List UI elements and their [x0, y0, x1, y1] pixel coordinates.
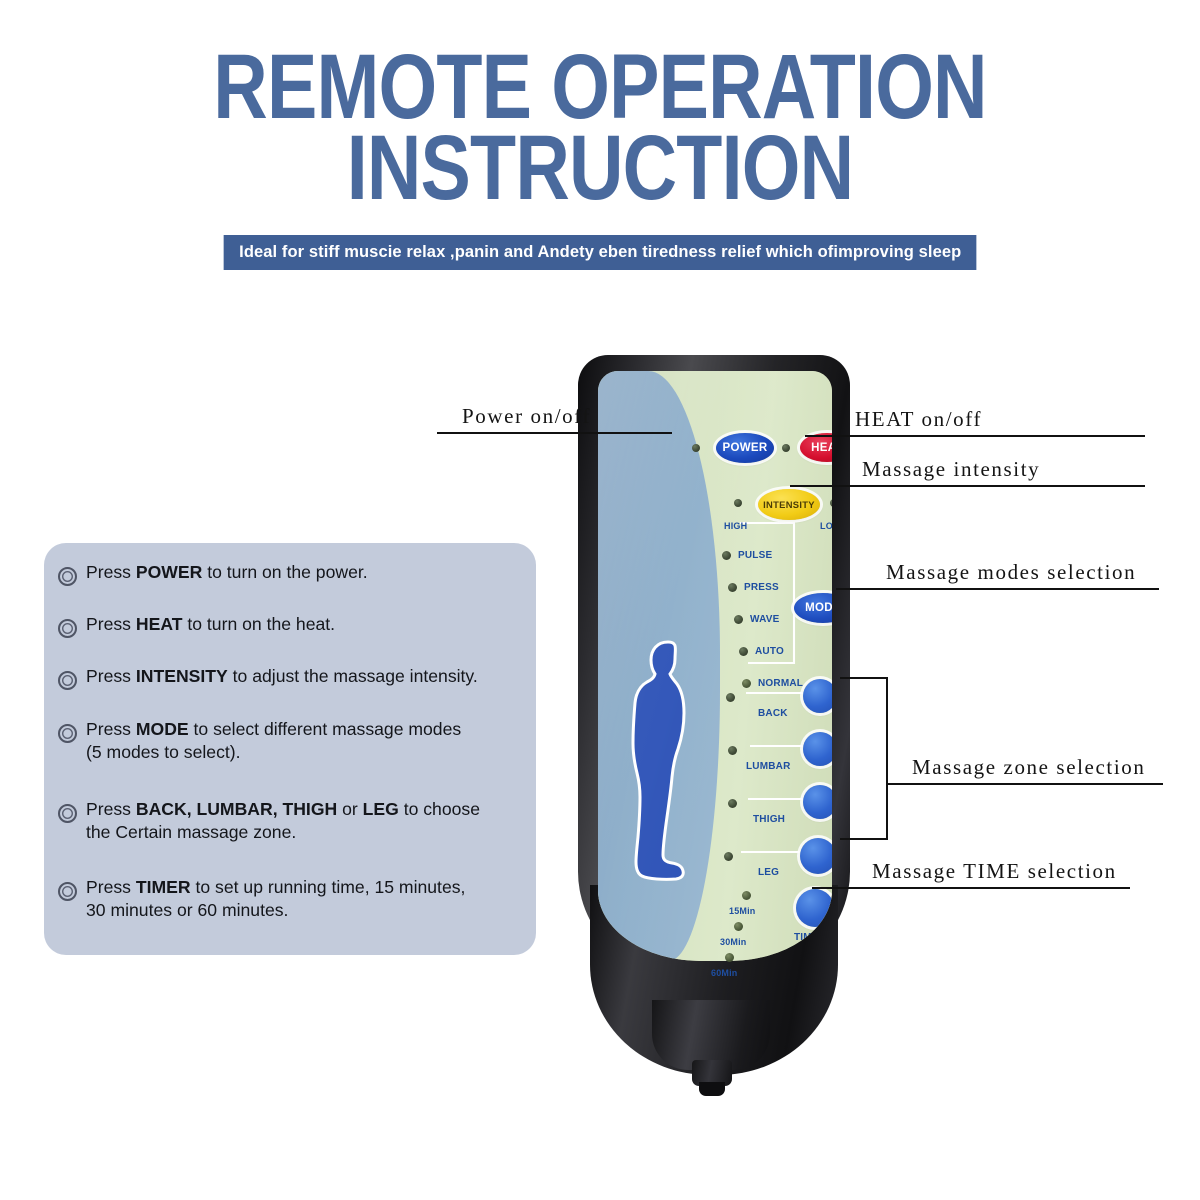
zone-leg-label: LEG [758, 867, 779, 878]
instruction-post: to adjust the massage intensity. [228, 666, 478, 686]
zone-back-led [726, 693, 735, 702]
mode-pulse-led [722, 551, 731, 560]
instruction-post: to turn on the heat. [182, 614, 335, 634]
callout-power-label: Power on/off [462, 404, 591, 429]
callout-zone-bracket-top [840, 677, 888, 679]
leg-button[interactable] [800, 838, 832, 874]
double-circle-bullet-icon [58, 671, 77, 690]
timer-30min-label: 30Min [720, 937, 747, 947]
instruction-key: INTENSITY [136, 666, 228, 686]
instruction-post: to turn on the power. [202, 562, 367, 582]
power-led-indicator [692, 444, 700, 452]
intensity-button[interactable]: INTENSITY [758, 489, 820, 520]
zone-lumbar-led [728, 746, 737, 755]
instructions-panel: Press POWER to turn on the power. Press … [44, 543, 536, 955]
mode-wave-led [734, 615, 743, 624]
faceplate-gloss [598, 371, 832, 961]
remote-cable-tip [699, 1082, 725, 1096]
callout-heat-label: HEAT on/off [855, 407, 982, 432]
callout-modes-label: Massage modes selection [886, 560, 1136, 585]
power-button[interactable]: POWER [716, 433, 774, 463]
intensity-high-led [734, 499, 742, 507]
page-title-line2: INSTRUCTION [108, 125, 1092, 212]
instruction-text: Press POWER to turn on the power. [86, 561, 368, 584]
instruction-line2: the Certain massage zone. [86, 822, 296, 842]
thigh-button[interactable] [803, 785, 832, 819]
remote-faceplate: POWER HEAT INTENSITY HIGH LOW PULSE PRES… [598, 371, 832, 961]
instruction-text: Press INTENSITY to adjust the massage in… [86, 665, 478, 688]
intensity-low-led [830, 499, 832, 507]
intensity-low-label: LOW [820, 521, 832, 531]
instruction-post: to select different massage modes [189, 719, 462, 739]
instruction-text: Press HEAT to turn on the heat. [86, 613, 335, 636]
callout-intensity-label: Massage intensity [862, 457, 1040, 482]
callout-modes-leader [836, 588, 1159, 590]
mode-normal-label: NORMAL [758, 678, 803, 689]
instruction-key: MODE [136, 719, 189, 739]
instruction-post: to set up running time, 15 minutes, [191, 877, 466, 897]
subtitle-banner: Ideal for stiff muscie relax ,panin and … [223, 235, 976, 270]
timer-button-label: TIMER [794, 932, 826, 943]
instruction-pre: Press [86, 877, 136, 897]
list-item: Press TIMER to set up running time, 15 m… [44, 876, 568, 922]
instruction-mid: or [337, 799, 362, 819]
list-item: Press POWER to turn on the power. [44, 561, 568, 586]
instruction-key2: LEG [363, 799, 399, 819]
heat-led-indicator [782, 444, 790, 452]
mode-auto-label: AUTO [755, 646, 784, 657]
zone-lumbar-label: LUMBAR [746, 761, 791, 772]
zone-thigh-label: THIGH [753, 814, 785, 825]
back-button[interactable] [803, 679, 832, 713]
instruction-line2: 30 minutes or 60 minutes. [86, 900, 288, 920]
lumbar-button[interactable] [803, 732, 832, 766]
double-circle-bullet-icon [58, 882, 77, 901]
instruction-pre: Press [86, 562, 136, 582]
timer-30min-led [734, 922, 743, 931]
zone-back-label: BACK [758, 708, 788, 719]
list-item: Press BACK, LUMBAR, THIGH or LEG to choo… [44, 798, 568, 844]
timer-button[interactable] [796, 889, 832, 927]
callout-time-label: Massage TIME selection [872, 859, 1117, 884]
callout-zone-label: Massage zone selection [912, 755, 1145, 780]
intensity-high-label: HIGH [724, 521, 747, 531]
callout-zone-bracket-bottom [840, 838, 888, 840]
mode-wave-label: WAVE [750, 614, 780, 625]
remote-control-illustration: POWER HEAT INTENSITY HIGH LOW PULSE PRES… [560, 345, 890, 1125]
instruction-post: to choose [399, 799, 480, 819]
instruction-key: TIMER [136, 877, 191, 897]
list-item: Press HEAT to turn on the heat. [44, 613, 568, 638]
instruction-pre: Press [86, 719, 136, 739]
instruction-text: Press BACK, LUMBAR, THIGH or LEG to choo… [86, 798, 480, 844]
mode-normal-led [742, 679, 751, 688]
instruction-key: HEAT [136, 614, 183, 634]
double-circle-bullet-icon [58, 619, 77, 638]
instruction-text: Press MODE to select different massage m… [86, 718, 461, 764]
timer-60min-label: 60Min [711, 968, 738, 978]
list-item: Press INTENSITY to adjust the massage in… [44, 665, 568, 690]
mode-pulse-label: PULSE [738, 550, 772, 561]
zone-thigh-led [728, 799, 737, 808]
double-circle-bullet-icon [58, 724, 77, 743]
double-circle-bullet-icon [58, 804, 77, 823]
callout-heat-leader [805, 435, 1145, 437]
zone-leg-led [724, 852, 733, 861]
instruction-pre: Press [86, 666, 136, 686]
instruction-line2: (5 modes to select). [86, 742, 241, 762]
callout-intensity-leader [790, 485, 1145, 487]
page-header: REMOTE OPERATION INSTRUCTION Ideal for s… [0, 0, 1200, 270]
timer-15min-label: 15Min [729, 906, 756, 916]
double-circle-bullet-icon [58, 567, 77, 586]
callout-zone-leader [886, 783, 1163, 785]
mode-press-label: PRESS [744, 582, 779, 593]
mode-auto-led [739, 647, 748, 656]
instruction-pre: Press [86, 799, 136, 819]
instruction-text: Press TIMER to set up running time, 15 m… [86, 876, 465, 922]
instruction-pre: Press [86, 614, 136, 634]
timer-15min-led [742, 891, 751, 900]
list-item: Press MODE to select different massage m… [44, 718, 568, 764]
callout-zone-bracket-side [886, 677, 888, 839]
timer-60min-led [725, 953, 734, 962]
instruction-key: BACK, LUMBAR, THIGH [136, 799, 337, 819]
callout-time-leader [812, 887, 1130, 889]
callout-power-leader [437, 432, 672, 434]
instruction-key: POWER [136, 562, 202, 582]
mode-press-led [728, 583, 737, 592]
